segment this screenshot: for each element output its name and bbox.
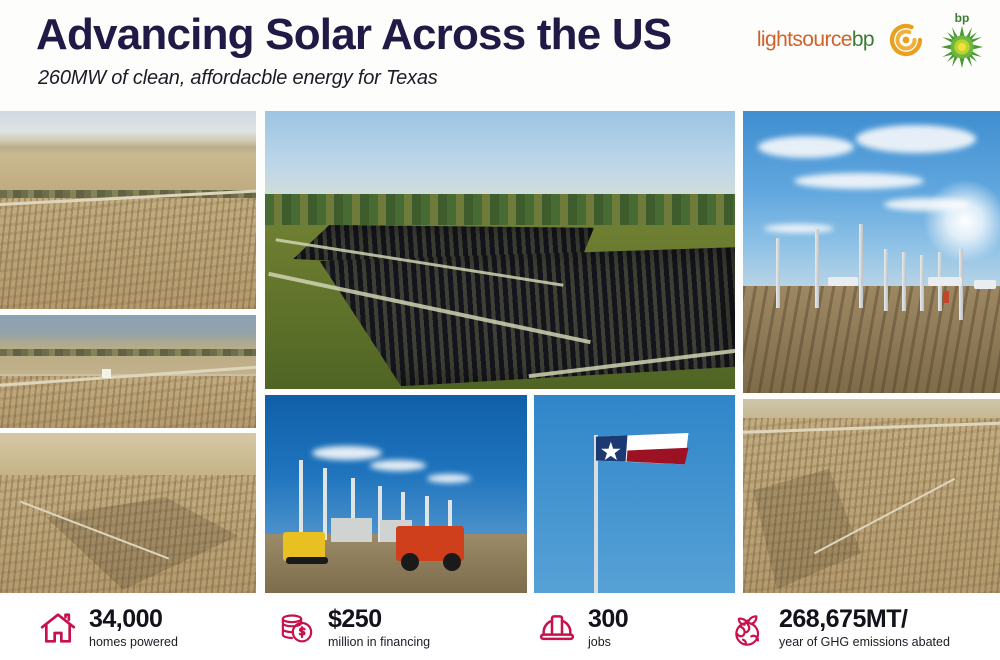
white-truck bbox=[928, 277, 962, 286]
photo-sky bbox=[265, 111, 735, 206]
header: Advancing Solar Across the US 260MW of c… bbox=[0, 0, 1000, 108]
white-truck bbox=[828, 277, 858, 286]
worker bbox=[943, 291, 949, 303]
bp-wordmark-text: bp bbox=[852, 28, 874, 51]
brand-logos: lightsourcebp bp bbox=[757, 12, 986, 68]
photo-pile-foundations bbox=[743, 111, 1000, 393]
steel-pile bbox=[815, 229, 819, 308]
stat-value: 268,675MT/ bbox=[779, 606, 950, 633]
stat-text: $250 million in financing bbox=[328, 606, 430, 650]
lightsource-bp-wordmark: lightsourcebp bbox=[757, 28, 874, 52]
photo-cloud bbox=[794, 173, 924, 189]
stat-homes-powered: 34,000 homes powered bbox=[38, 606, 178, 650]
photo-aerial-site-boundary bbox=[743, 399, 1000, 593]
white-truck bbox=[974, 280, 996, 289]
photo-equipment bbox=[102, 369, 111, 378]
photo-texas-flag bbox=[534, 395, 735, 593]
photo-sky bbox=[0, 315, 256, 374]
bp-helios-label: bp bbox=[955, 12, 970, 24]
globe-leaf-icon bbox=[728, 608, 768, 648]
stat-text: 34,000 homes powered bbox=[89, 606, 178, 650]
house-icon bbox=[38, 608, 78, 648]
site-building bbox=[331, 518, 373, 542]
photo-cloud bbox=[764, 224, 834, 233]
stat-financing: $250 million in financing bbox=[277, 606, 430, 650]
stat-label: homes powered bbox=[89, 634, 178, 650]
photo-field bbox=[0, 198, 256, 309]
stat-text: 268,675MT/ year of GHG emissions abated bbox=[779, 606, 950, 650]
stat-jobs: 300 jobs bbox=[537, 606, 628, 650]
lightsource-spiral-icon bbox=[886, 20, 926, 60]
stat-text: 300 jobs bbox=[588, 606, 628, 650]
steel-pile bbox=[902, 252, 906, 311]
hardhat-icon bbox=[537, 608, 577, 648]
photo-sky bbox=[0, 111, 256, 202]
stat-value: 300 bbox=[588, 606, 628, 633]
photo-cloud bbox=[856, 125, 976, 153]
photo-aerial-site-mid bbox=[0, 315, 256, 428]
infographic-poster: Advancing Solar Across the US 260MW of c… bbox=[0, 0, 1000, 660]
stat-label: jobs bbox=[588, 634, 628, 650]
stat-value: 34,000 bbox=[89, 606, 178, 633]
photo-aerial-parcels-bottom bbox=[0, 433, 256, 593]
photo-construction-machinery bbox=[265, 395, 527, 593]
stat-label: million in financing bbox=[328, 634, 430, 650]
photo-solar-farm-hero bbox=[265, 111, 735, 389]
steel-post bbox=[299, 460, 303, 539]
lightsource-wordmark-text: lightsource bbox=[757, 28, 852, 51]
photo-sky bbox=[0, 433, 256, 478]
page-title: Advancing Solar Across the US bbox=[36, 8, 671, 62]
bp-helios-logo: bp bbox=[938, 14, 986, 66]
excavator-track bbox=[286, 557, 328, 564]
steel-pile bbox=[776, 238, 780, 309]
photo-gallery bbox=[0, 108, 1000, 596]
stats-bar: 34,000 homes powered $250 million in fin… bbox=[0, 596, 1000, 660]
stat-label: year of GHG emissions abated bbox=[779, 634, 950, 650]
steel-pile bbox=[859, 224, 863, 309]
photo-sky bbox=[534, 395, 735, 593]
coins-icon bbox=[277, 608, 317, 648]
steel-pile bbox=[920, 255, 924, 311]
steel-pile bbox=[884, 249, 888, 311]
photo-aerial-farmland-top bbox=[0, 111, 256, 309]
photo-treeline bbox=[0, 349, 256, 356]
stat-value: $250 bbox=[328, 606, 430, 633]
texas-flag bbox=[596, 433, 688, 486]
stat-ghg-abated: 268,675MT/ year of GHG emissions abated bbox=[728, 606, 950, 650]
page-subtitle: 260MW of clean, affordacble energy for T… bbox=[38, 64, 438, 92]
steel-post bbox=[323, 468, 327, 539]
